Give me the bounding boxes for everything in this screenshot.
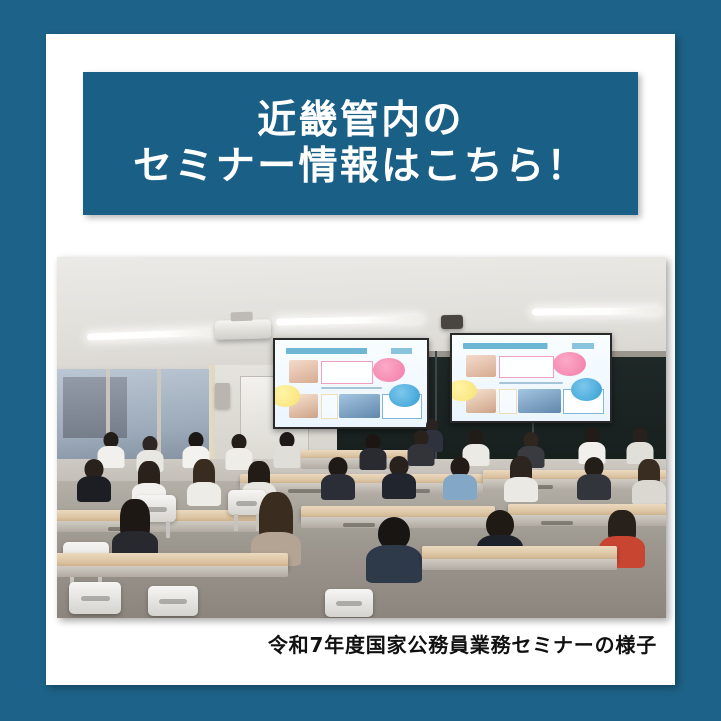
title-banner[interactable]: 近畿管内の セミナー情報はこちら！ bbox=[83, 72, 638, 215]
desk-row-front bbox=[422, 546, 617, 561]
slide-textbox bbox=[321, 361, 373, 384]
body bbox=[187, 482, 221, 506]
student bbox=[81, 459, 107, 499]
student bbox=[629, 428, 651, 462]
desk-front bbox=[57, 566, 288, 577]
slide-bubble-pink bbox=[373, 358, 405, 382]
slide-bubble-blue bbox=[389, 384, 419, 407]
slide-textbox bbox=[499, 356, 553, 379]
slide-line bbox=[321, 387, 382, 389]
body bbox=[366, 545, 422, 583]
chair bbox=[325, 589, 373, 617]
desk-row-front bbox=[57, 553, 288, 568]
desk-front bbox=[57, 521, 288, 532]
ceiling-camera-icon bbox=[441, 315, 463, 329]
ceiling-light bbox=[532, 307, 660, 315]
student bbox=[581, 457, 607, 497]
chair-slot bbox=[336, 601, 363, 606]
student-foreground bbox=[258, 492, 294, 554]
body bbox=[382, 473, 416, 499]
body bbox=[359, 448, 386, 470]
desk-row bbox=[508, 504, 666, 517]
chair-slot bbox=[81, 596, 110, 601]
white-card: 近畿管内の セミナー情報はこちら！ bbox=[46, 34, 675, 685]
seminar-photo-scene bbox=[57, 257, 666, 618]
wall-speaker bbox=[215, 383, 230, 408]
desk-front bbox=[508, 515, 666, 526]
body bbox=[321, 474, 355, 500]
student bbox=[191, 459, 217, 499]
student-foreground bbox=[374, 517, 414, 577]
body bbox=[504, 477, 538, 502]
chair bbox=[69, 582, 121, 614]
projection-screen-left bbox=[273, 338, 429, 429]
projection-screen-right bbox=[450, 333, 612, 424]
slide-bubble-yellow bbox=[273, 385, 299, 407]
student bbox=[276, 432, 298, 466]
desk-slot bbox=[541, 521, 574, 525]
slide-title-bar bbox=[463, 343, 599, 349]
body bbox=[577, 474, 611, 500]
student bbox=[508, 456, 534, 496]
slide-photo bbox=[518, 389, 561, 413]
slide-textbox bbox=[321, 394, 338, 419]
slide-bubble-pink bbox=[553, 352, 586, 376]
student bbox=[386, 456, 412, 496]
outside-building bbox=[63, 377, 126, 438]
body bbox=[77, 476, 111, 502]
student bbox=[362, 434, 384, 468]
student bbox=[325, 457, 351, 497]
chair-slot bbox=[159, 599, 187, 604]
slide-photo bbox=[289, 360, 318, 383]
desk-front bbox=[422, 559, 617, 570]
body bbox=[443, 474, 477, 500]
student bbox=[447, 457, 473, 497]
chair-leg bbox=[234, 514, 238, 531]
poster-root: 近畿管内の セミナー情報はこちら！ bbox=[0, 0, 721, 721]
body bbox=[632, 480, 666, 505]
slide-textbox bbox=[499, 389, 517, 414]
title-line-1: 近畿管内の bbox=[257, 98, 464, 143]
slide-photo bbox=[339, 394, 380, 418]
chair-slot bbox=[236, 501, 257, 506]
student bbox=[410, 430, 432, 464]
ceiling-projector-icon bbox=[215, 319, 271, 339]
chair-leg bbox=[166, 521, 170, 538]
seminar-photo bbox=[57, 257, 666, 618]
slide-line bbox=[499, 382, 562, 384]
slide-title-bar bbox=[286, 348, 417, 354]
desk-slot bbox=[343, 523, 374, 527]
body bbox=[274, 446, 301, 468]
photo-caption: 令和7年度国家公務員業務セミナーの様子 bbox=[46, 629, 657, 658]
student bbox=[118, 499, 152, 555]
student bbox=[636, 459, 662, 499]
title-line-2: セミナー情報はこちら！ bbox=[133, 144, 588, 189]
slide-photo bbox=[466, 355, 496, 378]
chair bbox=[148, 586, 198, 616]
